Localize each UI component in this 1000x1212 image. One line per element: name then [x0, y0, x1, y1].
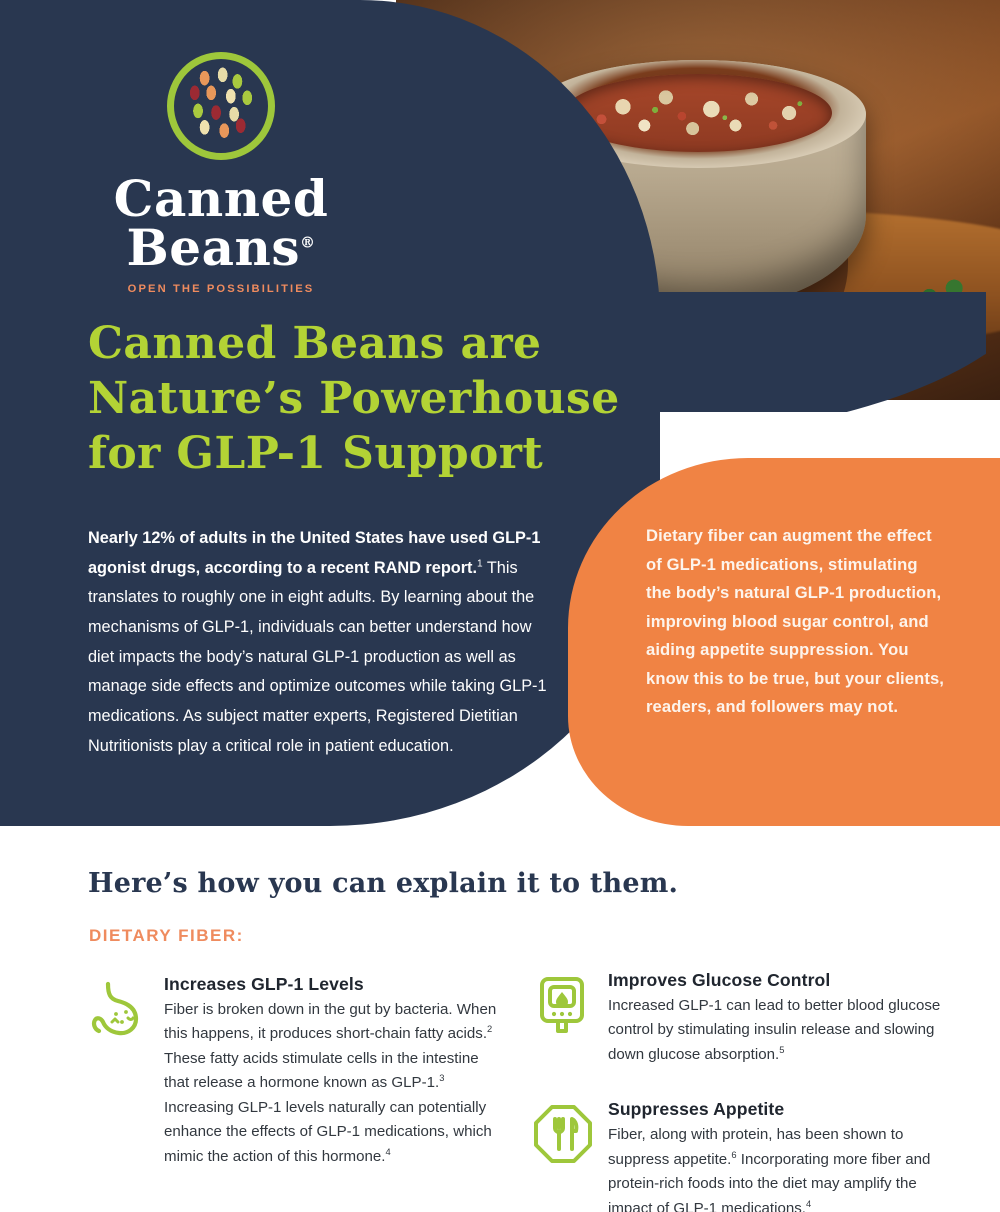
headline-line-3: for GLP-1 Support [88, 426, 628, 481]
feature-title: Increases GLP-1 Levels [164, 974, 498, 995]
headline-line-2: Nature’s Powerhouse [88, 371, 628, 426]
page-title: Canned Beans are Nature’s Powerhouse for… [88, 316, 628, 481]
feature-footnote-a: 5 [779, 1045, 784, 1055]
feature-body-b: These fatty acids stimulate cells in the… [164, 1050, 479, 1091]
brand-name-line2: Beans® [90, 223, 352, 272]
feature-body: Increased GLP-1 can lead to better blood… [608, 994, 952, 1067]
brand-tagline: OPEN THE POSSIBILITIES [90, 283, 352, 295]
brand-name-line2-text: Beans [127, 218, 300, 277]
feature-item: Improves Glucose Control Increased GLP-1… [532, 970, 952, 1067]
intro-lead-footnote: 1 [477, 558, 483, 569]
feature-body: Fiber is broken down in the gut by bacte… [164, 998, 498, 1169]
feature-text: Suppresses Appetite Fiber, along with pr… [608, 1099, 952, 1212]
feature-text: Increases GLP-1 Levels Fiber is broken d… [164, 974, 498, 1169]
glucose-meter-icon [532, 970, 608, 1036]
feature-item: Suppresses Appetite Fiber, along with pr… [532, 1099, 952, 1212]
feature-body-c: Increasing GLP-1 levels naturally can po… [164, 1099, 492, 1165]
cilantro-garnish [910, 268, 988, 321]
feature-footnote-a: 2 [487, 1024, 492, 1034]
infographic-page: Canned Beans® OPEN THE POSSIBILITIES Can… [0, 0, 1000, 1212]
registered-mark: ® [300, 233, 316, 251]
callout-text: Dietary fiber can augment the effect of … [646, 522, 946, 722]
feature-body-a: Increased GLP-1 can lead to better blood… [608, 997, 940, 1063]
fork-knife-octagon-icon [532, 1099, 608, 1165]
feature-title: Suppresses Appetite [608, 1099, 952, 1120]
feature-text: Improves Glucose Control Increased GLP-1… [608, 970, 952, 1067]
brand-logo: Canned Beans® OPEN THE POSSIBILITIES [90, 52, 352, 295]
intro-rest: This translates to roughly one in eight … [88, 559, 547, 755]
feature-body-a: Fiber is broken down in the gut by bacte… [164, 1001, 496, 1042]
features-column-left: Increases GLP-1 Levels Fiber is broken d… [88, 974, 498, 1201]
callout-panel: Dietary fiber can augment the effect of … [568, 458, 1000, 826]
intro-paragraph: Nearly 12% of adults in the United State… [88, 524, 558, 761]
feature-footnote-c: 4 [385, 1147, 390, 1157]
section-kicker: DIETARY FIBER: [89, 926, 244, 946]
feature-title: Improves Glucose Control [608, 970, 952, 991]
headline-line-1: Canned Beans are [88, 316, 628, 371]
section-subhead: Here’s how you can explain it to them. [88, 868, 678, 899]
features-column-right: Improves Glucose Control Increased GLP-1… [532, 970, 952, 1212]
intro-lead: Nearly 12% of adults in the United State… [88, 529, 540, 577]
feature-footnote-b: 3 [439, 1073, 444, 1083]
bean-bowl-circle-logo-icon [167, 52, 275, 160]
brand-name-line1: Canned [90, 174, 352, 223]
feature-body: Fiber, along with protein, has been show… [608, 1123, 952, 1212]
feature-footnote-b: 4 [806, 1199, 811, 1209]
feature-item: Increases GLP-1 Levels Fiber is broken d… [88, 974, 498, 1169]
stomach-icon [88, 974, 164, 1040]
